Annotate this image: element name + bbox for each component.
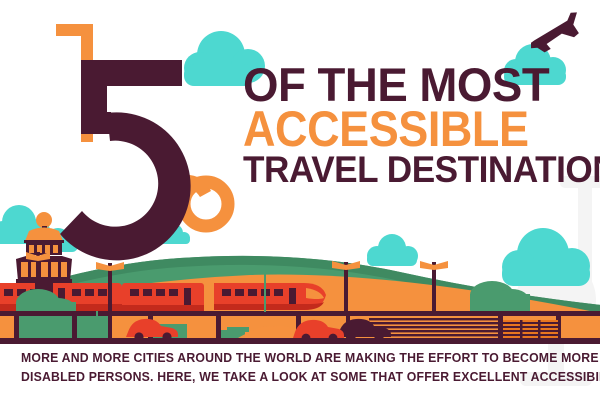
hill-pole-2: [264, 270, 266, 312]
car-icon-left: [126, 319, 178, 342]
lamp-post-icon-3: [420, 261, 448, 314]
road-green-patches: [19, 316, 245, 338]
headline-line-1: OF THE MOST: [243, 64, 553, 105]
wheelchair-backrest: [56, 24, 93, 142]
tower-main-windows: [21, 262, 67, 277]
road-signal-blocks: [227, 327, 249, 338]
lamp-post-icon-2: [332, 261, 360, 312]
green-ground-left: [0, 303, 150, 340]
station-building-center: [122, 283, 204, 311]
road-deck: [0, 316, 600, 340]
train-icon-right: [214, 283, 326, 310]
cloud-icon-5: [367, 234, 418, 266]
numeral-five-shape: [60, 60, 191, 260]
infographic-poster: OF THE MOST ACCESSIBLE TRAVEL DESTINATIO…: [0, 0, 600, 401]
fence-icon: [369, 316, 558, 338]
road-top-rail: [0, 311, 600, 316]
car-icon-right: [238, 320, 344, 343]
tower-upper-windows: [29, 245, 58, 253]
green-hill-shadow: [0, 256, 600, 315]
lamp-post-icon-4: [26, 252, 50, 288]
wheelchair-front-wheel: [180, 175, 228, 226]
bush-icon-2: [470, 281, 530, 316]
tower-beacon: [36, 212, 52, 228]
caption-line-1: MORE AND MORE CITIES AROUND THE WORLD AR…: [21, 349, 579, 368]
caption-line-2: DISABLED PERSONS. HERE, WE TAKE A LOOK A…: [21, 368, 579, 387]
road-bottom-rail: [0, 338, 600, 344]
green-hill-icon: [0, 256, 600, 340]
caption-block: MORE AND MORE CITIES AROUND THE WORLD AR…: [0, 349, 600, 386]
tower-control-room: [16, 256, 72, 281]
lamp-post-icon-1: [96, 262, 124, 311]
tower-shaft: [35, 283, 53, 309]
road-piers: [14, 311, 561, 340]
cloud-icon-7: [46, 228, 78, 252]
car-icon-center: [337, 319, 391, 342]
cloud-icon-4: [159, 224, 190, 244]
cloud-icon-3: [0, 205, 50, 244]
headline-block: OF THE MOST ACCESSIBLE TRAVEL DESTINATIO…: [243, 64, 563, 187]
cloud-icon-6: [502, 228, 590, 286]
orange-ground-icon: [0, 275, 600, 341]
headline-line-3: TRAVEL DESTINATIONS: [243, 154, 547, 187]
train-icon-left: [0, 283, 122, 311]
bush-icon-1: [16, 289, 76, 322]
headline-line-2: ACCESSIBLE: [243, 107, 531, 151]
airplane-icon: [524, 11, 586, 57]
hill-pole-1: [96, 311, 98, 338]
